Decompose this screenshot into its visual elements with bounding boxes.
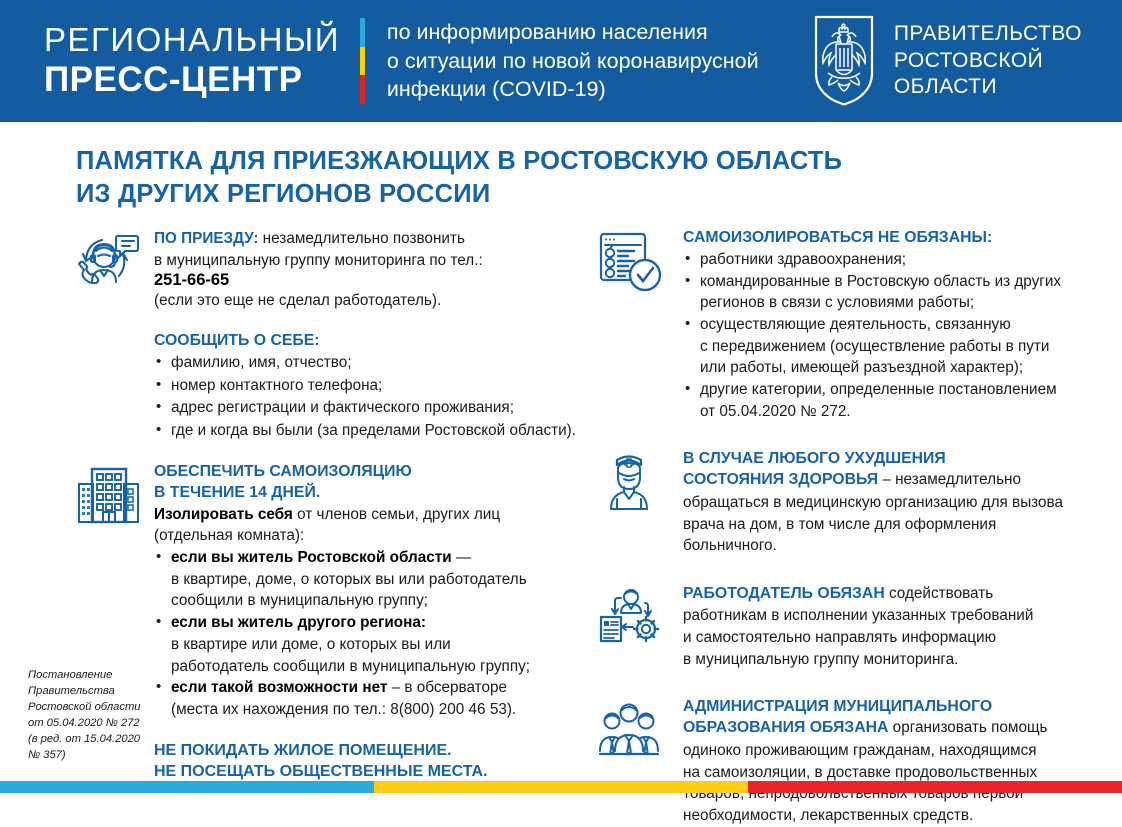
list-item: командированные в Ростовскую область из … [683,271,1067,314]
page-title: ПАМЯТКА ДЛЯ ПРИЕЗЖАЮЩИХ В РОСТОВСКУЮ ОБЛ… [76,145,856,211]
item-bold: если вы житель другого региона: [171,614,426,631]
operator-headset-icon [76,228,154,292]
list-item: если такой возможности нет – в обсервато… [154,677,581,720]
health-heading-line-2: СОСТОЯНИЯ ЗДОРОВЬЯ – незамедлительно [683,469,1067,491]
spacer [76,443,581,462]
employer-body-line: в муниципальную группу мониторинга. [683,649,1067,671]
administration-heading-line-2: ОБРАЗОВАНИЯ ОБЯЗАНА организовать помощь [683,717,1067,739]
item-bold: если вы житель Ростовской области [171,549,452,566]
spacer [154,312,581,331]
page-title-line-2: ИЗ ДРУГИХ РЕГИОНОВ РОССИИ [76,178,856,211]
health-text: В СЛУЧАЕ ЛЮБОГО УХУДШЕНИЯ СОСТОЯНИЯ ЗДОР… [683,449,1067,557]
isolation-text: ОБЕСПЕЧИТЬ САМОИЗОЛЯЦИЮ В ТЕЧЕНИЕ 14 ДНЕ… [154,462,581,782]
administration-body-line: одиноко проживающим гражданам, находящим… [683,740,1067,762]
isolation-heading-line-2: В ТЕЧЕНИЕ 14 ДНЕЙ. [154,483,581,504]
arrival-line-4: (если это еще не сделал работодатель). [154,290,581,312]
report-list: фамилию, имя, отчество; номер контактног… [154,352,581,442]
item-rest-line: (места их нахождения по тел.: 8(800) 200… [171,699,581,721]
item-line: другие категории, определенные постановл… [700,381,1057,398]
arrival-heading-rest: незамедлительно позвонить [258,230,464,247]
bottom-tricolor-stripes [0,781,1122,793]
list-item: если вы житель другого региона: в кварти… [154,612,581,677]
header-subtitle-line-3: инфекции (COVID-19) [387,75,759,104]
list-item: работники здравоохранения; [683,249,1067,271]
list-item: фамилию, имя, отчество; [154,352,581,374]
administration-heading-bold: ОБРАЗОВАНИЯ ОБЯЗАНА [683,719,888,736]
block-isolation: ОБЕСПЕЧИТЬ САМОИЗОЛЯЦИЮ В ТЕЧЕНИЕ 14 ДНЕ… [76,462,581,782]
left-column: ПО ПРИЕЗДУ: незамедлительно позвонить в … [76,228,581,782]
logo-line-1: РЕГИОНАЛЬНЫЙ [44,23,340,58]
isolation-lead-rest: от членов семьи, других лиц [293,506,500,523]
employer-heading: РАБОТОДАТЕЛЬ ОБЯЗАН [683,585,885,602]
health-heading-line-1: В СЛУЧАЕ ЛЮБОГО УХУДШЕНИЯ [683,449,1067,470]
page-header: РЕГИОНАЛЬНЫЙ ПРЕСС-ЦЕНТР по информирован… [0,0,1122,122]
health-heading-rest: – незамедлительно [878,471,1021,488]
tricolor-divider [360,18,365,104]
block-on-arrival: ПО ПРИЕЗДУ: незамедлительно позвонить в … [76,228,581,443]
administration-body-line: необходимости, лекарственных средств. [683,805,1067,827]
press-center-logo: РЕГИОНАЛЬНЫЙ ПРЕСС-ЦЕНТР [44,23,340,98]
isolation-lead: Изолировать себя от членов семьи, других… [154,504,581,526]
header-subtitle: по информированию населения о ситуации п… [387,18,759,104]
divider-cyan [360,18,365,47]
arrival-line-2: в муниципальную группу мониторинга по те… [154,250,581,272]
infographic-page: РЕГИОНАЛЬНЫЙ ПРЕСС-ЦЕНТР по информирован… [0,0,1122,793]
government-name: ПРАВИТЕЛЬСТВО РОСТОВСКОЙ ОБЛАСТИ [894,21,1082,102]
administration-heading-line-1: АДМИНИСТРАЦИЯ МУНИЦИПАЛЬНОГО [683,697,1067,718]
health-body-line: обращаться в медицинскую организацию для… [683,492,1067,514]
item-line: регионов в связи с условиями работы; [700,292,1067,314]
isolation-list: если вы житель Ростовской области — в кв… [154,547,581,721]
spacer [597,423,1067,449]
bottom-note-line-2: НЕ ПОСЕЩАТЬ ОБЩЕСТВЕННЫЕ МЕСТА. [154,761,581,782]
spacer [597,557,1067,583]
arrival-heading: ПО ПРИЕЗДУ: [154,230,258,247]
item-line: или работы, имеющей разъездной характер)… [700,357,1067,379]
item-rest-line: в квартире или доме, о которых вы или [171,634,581,656]
list-item: если вы житель Ростовской области — в кв… [154,547,581,612]
header-subtitle-line-1: по информированию населения [387,18,759,47]
divider-red [360,75,365,104]
spacer [597,671,1067,697]
block-exempt: САМОИЗОЛИРОВАТЬСЯ НЕ ОБЯЗАНЫ: работники … [597,228,1067,423]
divider-yellow [360,47,365,76]
list-item: другие категории, определенные постановл… [683,379,1067,422]
item-line: осуществляющие деятельность, связанную [700,316,1011,333]
item-after: — [452,549,472,566]
header-subtitle-line-2: о ситуации по новой коронавирусной [387,47,759,76]
exempt-text: САМОИЗОЛИРОВАТЬСЯ НЕ ОБЯЗАНЫ: работники … [683,228,1067,423]
item-line: работники здравоохранения; [700,251,906,268]
right-column: САМОИЗОЛИРОВАТЬСЯ НЕ ОБЯЗАНЫ: работники … [597,228,1067,827]
arrival-line-1: ПО ПРИЕЗДУ: незамедлительно позвонить [154,228,581,250]
list-item: осуществляющие деятельность, связанную с… [683,314,1067,379]
employer-heading-rest: содействовать [885,585,993,602]
stripe-yellow [374,781,748,793]
government-block: ПРАВИТЕЛЬСТВО РОСТОВСКОЙ ОБЛАСТИ [812,0,1082,122]
block-health: В СЛУЧАЕ ЛЮБОГО УХУДШЕНИЯ СОСТОЯНИЯ ЗДОР… [597,449,1067,557]
administration-heading-rest: организовать помощь [888,719,1047,736]
stripe-red [748,781,1122,793]
item-line: с передвижением (осуществление работы в … [700,336,1067,358]
item-bold: если такой возможности нет [171,679,387,696]
exempt-list: работники здравоохранения; командированн… [683,249,1067,423]
list-item: номер контактного телефона; [154,375,581,397]
employer-body-line: работникам в исполнении указанных требов… [683,605,1067,627]
item-rest-line: сообщили в муниципальную группу; [171,590,581,612]
isolation-heading-line-1: ОБЕСПЕЧИТЬ САМОИЗОЛЯЦИЮ [154,462,581,483]
report-heading: СООБЩИТЬ О СЕБЕ: [154,331,581,352]
employer-process-icon [597,583,683,647]
gov-line-2: РОСТОВСКОЙ [894,48,1082,75]
gov-line-3: ОБЛАСТИ [894,74,1082,101]
item-after: – в обсерваторе [387,679,507,696]
health-body-line: больничного. [683,535,1067,557]
exempt-heading: САМОИЗОЛИРОВАТЬСЯ НЕ ОБЯЗАНЫ: [683,228,1067,249]
spacer [154,721,581,740]
checklist-form-icon [597,228,683,294]
item-line: от 05.04.2020 № 272. [700,401,1067,423]
group-people-icon [597,697,683,759]
health-heading-bold: СОСТОЯНИЯ ЗДОРОВЬЯ [683,471,878,488]
list-item: где и когда вы были (за пределами Ростов… [154,420,581,442]
block-administration: АДМИНИСТРАЦИЯ МУНИЦИПАЛЬНОГО ОБРАЗОВАНИЯ… [597,697,1067,827]
item-rest-line: работодатель сообщили в муниципальную гр… [171,656,581,678]
nurse-icon [597,449,683,513]
isolation-lead-bold: Изолировать себя [154,506,293,523]
health-body-line: врача на дом, в том числе для оформления [683,514,1067,536]
building-icon [76,462,154,528]
administration-text: АДМИНИСТРАЦИЯ МУНИЦИПАЛЬНОГО ОБРАЗОВАНИЯ… [683,697,1067,827]
gov-line-1: ПРАВИТЕЛЬСТВО [894,21,1082,48]
logo-line-2: ПРЕСС-ЦЕНТР [44,62,340,99]
employer-text: РАБОТОДАТЕЛЬ ОБЯЗАН содействовать работн… [683,583,1067,671]
employer-heading-line: РАБОТОДАТЕЛЬ ОБЯЗАН содействовать [683,583,1067,605]
list-item: адрес регистрации и фактического прожива… [154,397,581,419]
arrival-phone[interactable]: 251-66-65 [154,271,581,290]
block-employer: РАБОТОДАТЕЛЬ ОБЯЗАН содействовать работн… [597,583,1067,671]
on-arrival-text: ПО ПРИЕЗДУ: незамедлительно позвонить в … [154,228,581,443]
isolation-lead-line-2: (отдельная комната): [154,525,581,547]
bottom-note-line-1: НЕ ПОКИДАТЬ ЖИЛОЕ ПОМЕЩЕНИЕ. [154,740,581,761]
item-rest-line: в квартире, доме, о которых вы или работ… [171,569,581,591]
item-line: командированные в Ростовскую область из … [700,273,1061,290]
page-title-line-1: ПАМЯТКА ДЛЯ ПРИЕЗЖАЮЩИХ В РОСТОВСКУЮ ОБЛ… [76,145,856,178]
employer-body-line: и самостоятельно направлять информацию [683,627,1067,649]
coat-of-arms-icon [812,15,876,107]
stripe-cyan [0,781,374,793]
